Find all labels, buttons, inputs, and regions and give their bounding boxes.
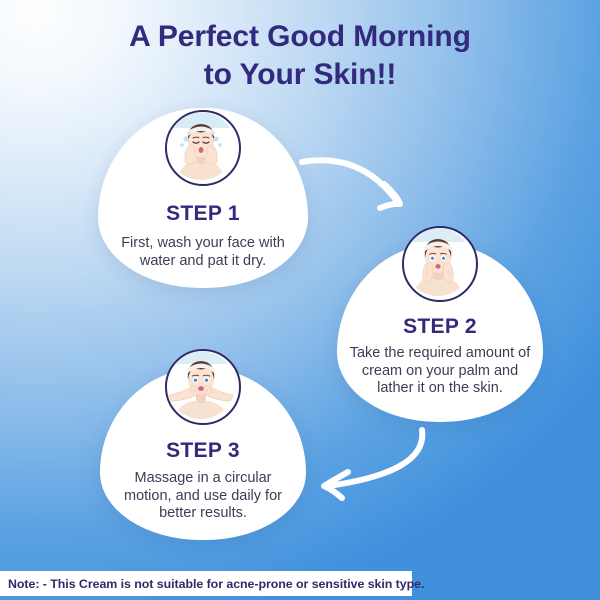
title-line-1: A Perfect Good Morning xyxy=(0,18,600,56)
title-line-2: to Your Skin!! xyxy=(0,56,600,94)
footer-note-strip: Note: - This Cream is not suitable for a… xyxy=(0,571,412,596)
step-1-heading: STEP 1 xyxy=(166,202,240,226)
step-3-heading: STEP 3 xyxy=(166,439,240,463)
arrow-step1-to-step2 xyxy=(296,144,426,229)
infographic-poster: A Perfect Good Morning to Your Skin!! xyxy=(0,0,600,600)
page-title: A Perfect Good Morning to Your Skin!! xyxy=(0,18,600,94)
step-card-2: STEP 2 Take the required amount of cream… xyxy=(337,244,543,422)
step-2-body: Take the required amount of cream on you… xyxy=(348,345,532,398)
face-washing-icon xyxy=(165,110,241,186)
cream-application-icon xyxy=(402,226,478,302)
step-3-body: Massage in a circular motion, and use da… xyxy=(110,470,296,523)
arrow-step2-to-step3 xyxy=(300,424,440,509)
footer-note-text: Note: - This Cream is not suitable for a… xyxy=(0,577,424,591)
step-card-1: STEP 1 First, wash your face with water … xyxy=(98,108,308,288)
step-1-body: First, wash your face with water and pat… xyxy=(110,235,296,270)
face-massage-icon xyxy=(165,349,241,425)
step-card-3: STEP 3 Massage in a circular motion, and… xyxy=(100,368,306,540)
step-2-heading: STEP 2 xyxy=(403,315,477,339)
